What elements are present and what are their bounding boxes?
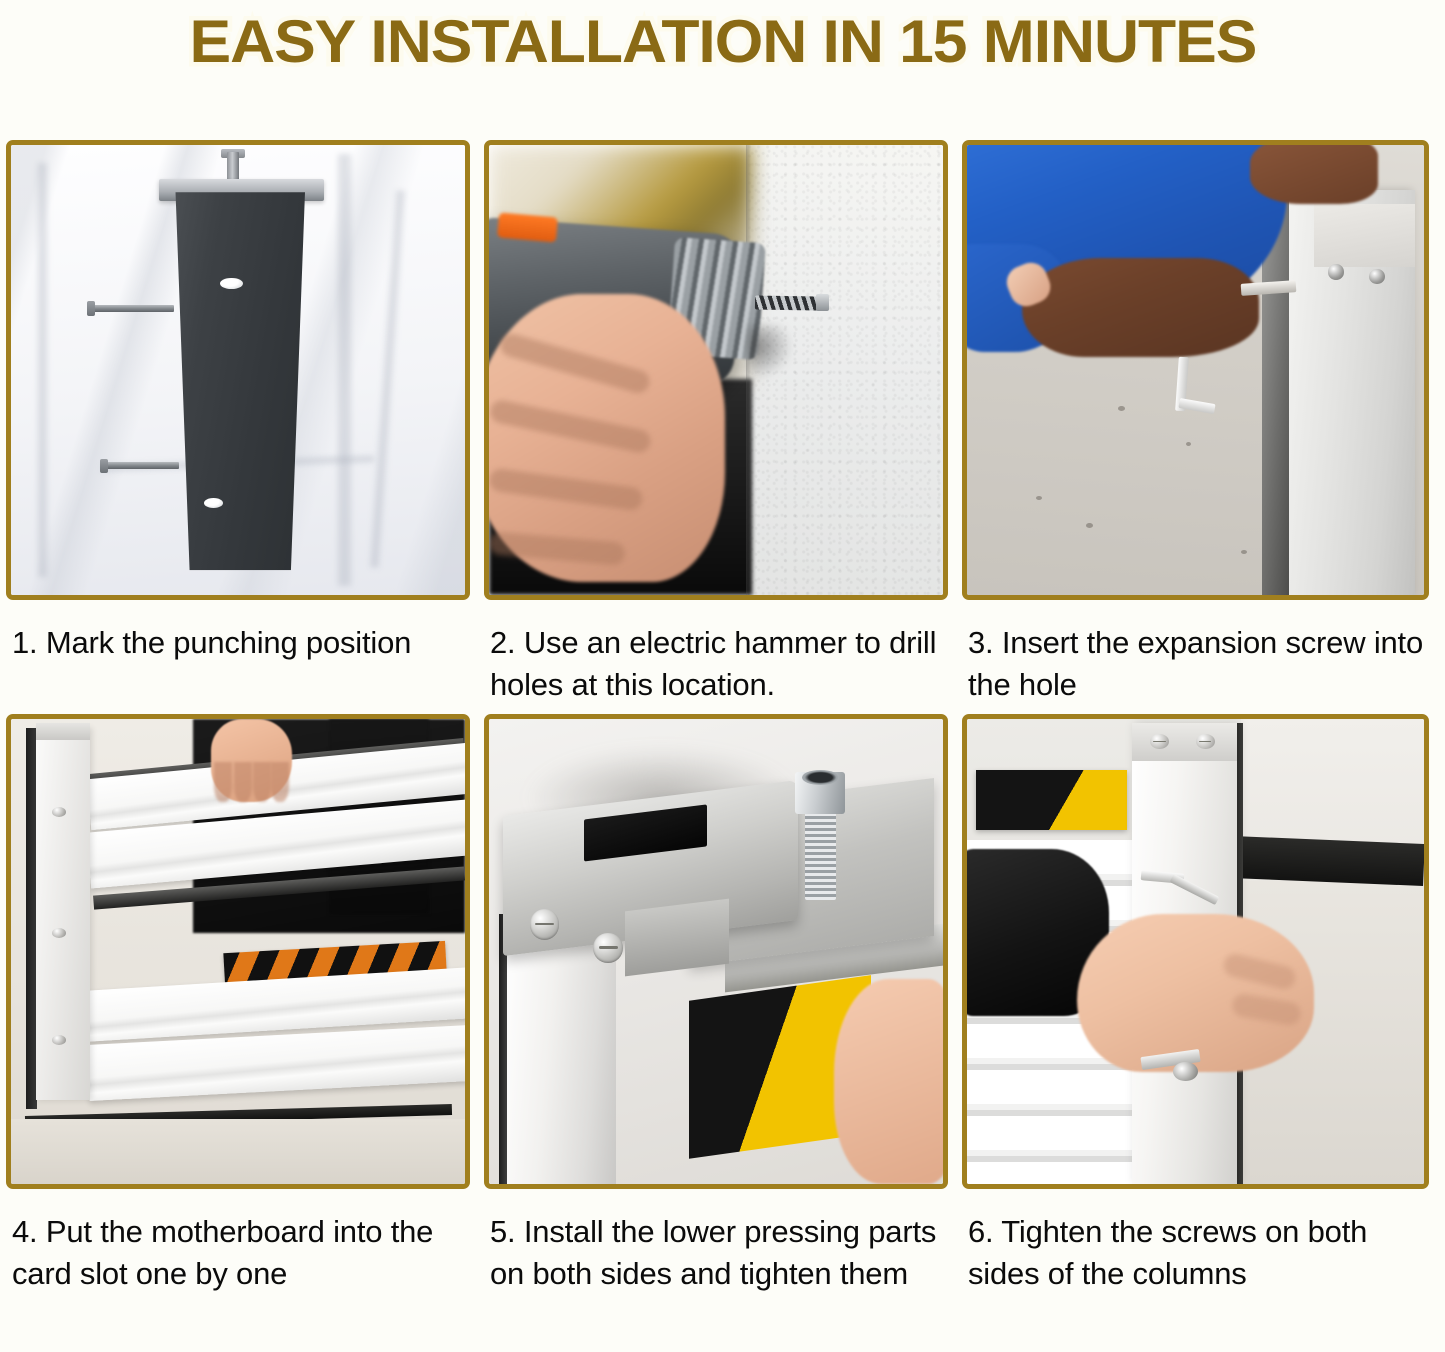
step-photo-6 (962, 714, 1429, 1189)
header-banner: EASY INSTALLATION IN 15 MINUTES (0, 0, 1445, 80)
photo-scene-boards-into-slots (11, 719, 465, 1184)
allen-key-on-floor (1177, 357, 1223, 411)
post-cap (36, 723, 90, 739)
step-photo-4 (6, 714, 470, 1189)
photo-scene-tighten-screws (967, 719, 1424, 1184)
finger (214, 762, 232, 802)
floor-speck (1036, 496, 1042, 500)
dark-baseboard (1231, 836, 1424, 886)
bolt-tip (100, 459, 108, 473)
hex-bolt-socket (802, 770, 838, 785)
steps-grid: 1. Mark the punching position (0, 132, 1445, 1294)
finger (271, 762, 289, 802)
floor-speck (1086, 523, 1093, 528)
step-caption-2: 2. Use an electric hammer to drill holes… (490, 622, 944, 706)
step-card-4: 4. Put the motherboard into the card slo… (0, 706, 480, 1295)
side-bolt-upper (93, 305, 175, 312)
photo-scene-bracket-marking (11, 145, 465, 595)
step-photo-3 (962, 140, 1429, 600)
column-top-plate (1132, 723, 1237, 760)
photo-scene-drilling-wall (489, 145, 943, 595)
floor-surface (11, 1119, 465, 1184)
column-top-screw-1 (1150, 734, 1169, 750)
photo-scene-expansion-screw (967, 145, 1424, 595)
bolt-tip (87, 301, 95, 315)
drill-dust (748, 325, 793, 379)
step-card-2: 2. Use an electric hammer to drill holes… (480, 132, 958, 706)
page-title: EASY INSTALLATION IN 15 MINUTES (189, 7, 1256, 76)
lower-column-bolt (1141, 1053, 1200, 1081)
mounting-column (170, 192, 311, 570)
step-photo-5 (484, 714, 948, 1189)
step-photo-2 (484, 140, 948, 600)
step-card-3: 3. Insert the expansion screw into the h… (958, 132, 1435, 706)
bracket-lip (625, 898, 729, 976)
step-card-5: 5. Install the lower pressing parts on b… (480, 706, 958, 1295)
step-caption-5: 5. Install the lower pressing parts on b… (490, 1211, 944, 1295)
column-top-screw-2 (1196, 734, 1215, 750)
photo-scene-pressing-bracket (489, 719, 943, 1184)
bracket-screw-2 (593, 933, 623, 963)
plate-screw (1369, 269, 1385, 284)
worker-upper-hand (1250, 145, 1378, 204)
drill-bit-tip (816, 294, 830, 311)
plate-screw (1328, 264, 1344, 279)
column-mounting-plate (1314, 204, 1415, 267)
finger (234, 762, 252, 802)
step-card-1: 1. Mark the punching position (0, 132, 480, 706)
hazard-stripe-board (976, 770, 1127, 830)
allen-key-long-arm (1169, 874, 1219, 905)
drill-bit (754, 295, 818, 310)
floor-speck (1118, 406, 1125, 411)
column-post (36, 728, 90, 1100)
side-bolt-lower (106, 462, 179, 469)
step-card-6: 6. Tighten the screws on both sides of t… (958, 706, 1435, 1295)
hand-placing-board (211, 719, 293, 803)
step-caption-1: 1. Mark the punching position (12, 622, 466, 664)
hex-bolt-shaft (805, 807, 837, 900)
sheet-fold (338, 154, 352, 586)
worker-arm (1022, 258, 1260, 357)
drill-orange-accent (497, 212, 558, 242)
bolt-head (1173, 1062, 1198, 1082)
step-photo-1 (6, 140, 470, 600)
bracket-screw-1 (530, 909, 560, 939)
sheet-fold (38, 163, 47, 577)
step-caption-6: 6. Tighten the screws on both sides of t… (968, 1211, 1425, 1295)
hand-supporting-board (834, 979, 943, 1184)
step-caption-4: 4. Put the motherboard into the card slo… (12, 1211, 466, 1295)
step-caption-3: 3. Insert the expansion screw into the h… (968, 622, 1425, 706)
finger (253, 762, 271, 802)
